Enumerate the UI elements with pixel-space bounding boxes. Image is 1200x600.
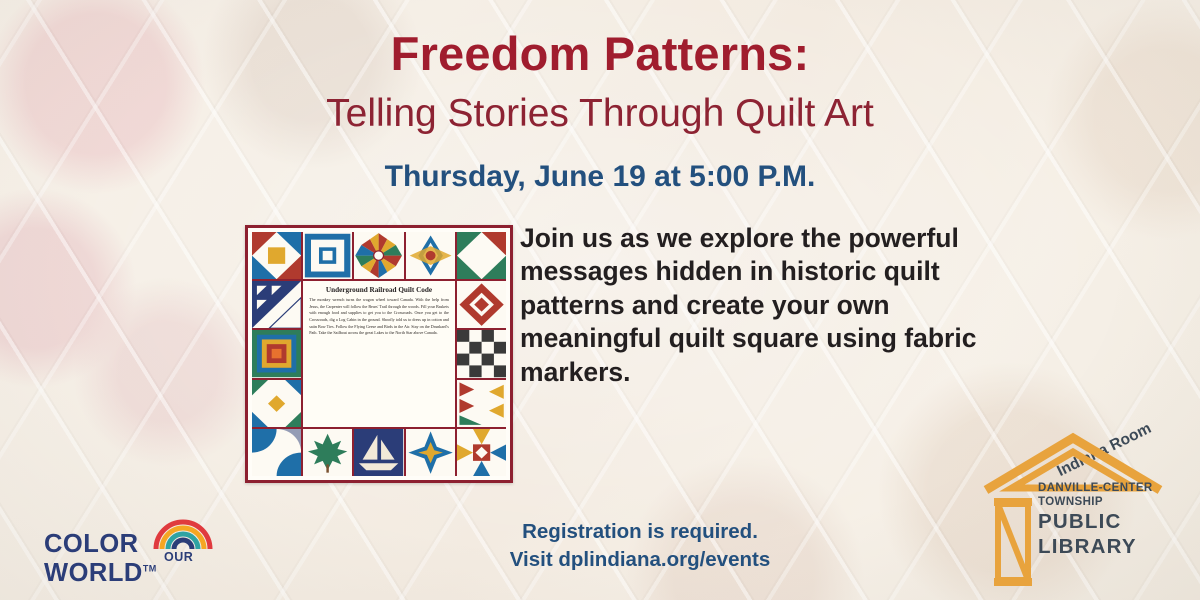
quilt-block-north-star [406,429,455,476]
logo-word-world: WORLD [44,559,143,587]
quilt-block-bears-trail [252,281,301,328]
event-datetime: Thursday, June 19 at 5:00 P.M. [0,160,1200,194]
registration-line-2: Visit dplindiana.org/events [430,546,850,574]
library-line-1: DANVILLE-CENTER [1038,482,1188,496]
quilt-block-checkerboard [457,330,506,377]
page-title: Freedom Patterns: [0,26,1200,81]
library-line-3: PUBLIC [1038,511,1188,534]
logo-word-color: COLOR [44,530,139,558]
quilt-block-maple-leaf [303,429,352,476]
registration-info: Registration is required. Visit dplindia… [430,518,850,573]
quilt-block-wagon-wheel [303,232,352,279]
quilt-block-bowtie-red [457,281,506,328]
quilt-code-title: Underground Railroad Quilt Code [309,286,449,294]
quilt-block-ohio-star [457,429,506,476]
library-wordmark: DANVILLE-CENTER TOWNSHIP PUBLIC LIBRARY [1038,482,1188,559]
page-subtitle: Telling Stories Through Quilt Art [0,92,1200,136]
library-logo: Indiana Room DANVILLE-CENTER TOWNSHIP PU… [968,420,1178,588]
quilt-block-flying-geese-green [457,232,506,279]
quilt-block-monkey-wrench [252,232,301,279]
registration-line-1: Registration is required. [430,518,850,546]
poster-content: Freedom Patterns: Telling Stories Throug… [0,0,1200,600]
color-our-world-logo: COLOR OUR WORLDTM OUR [44,512,284,574]
library-line-2: TOWNSHIP [1038,496,1188,510]
quilt-block-flying-geese-gold [457,380,506,427]
logo-word-our-visible: OUR [164,550,193,564]
library-line-4: LIBRARY [1038,536,1188,559]
quilt-block-shoofly [252,380,301,427]
quilt-grid: Underground Railroad Quilt Code The monk… [252,232,506,476]
quilt-block-bears-paw [406,232,455,279]
event-description: Join us as we explore the powerful messa… [520,222,1000,389]
quilt-block-sailboat [354,429,403,476]
quilt-block-log-cabin [252,330,301,377]
logo-trademark: TM [143,564,157,574]
quilt-code-panel: Underground Railroad Quilt Code The monk… [303,281,455,427]
quilt-block-drunkards-path [252,429,301,476]
quilt-image: Underground Railroad Quilt Code The monk… [245,225,513,483]
quilt-code-text: The monkey wrench turns the wagon wheel … [309,297,449,337]
quilt-block-mariners-compass [354,232,403,279]
